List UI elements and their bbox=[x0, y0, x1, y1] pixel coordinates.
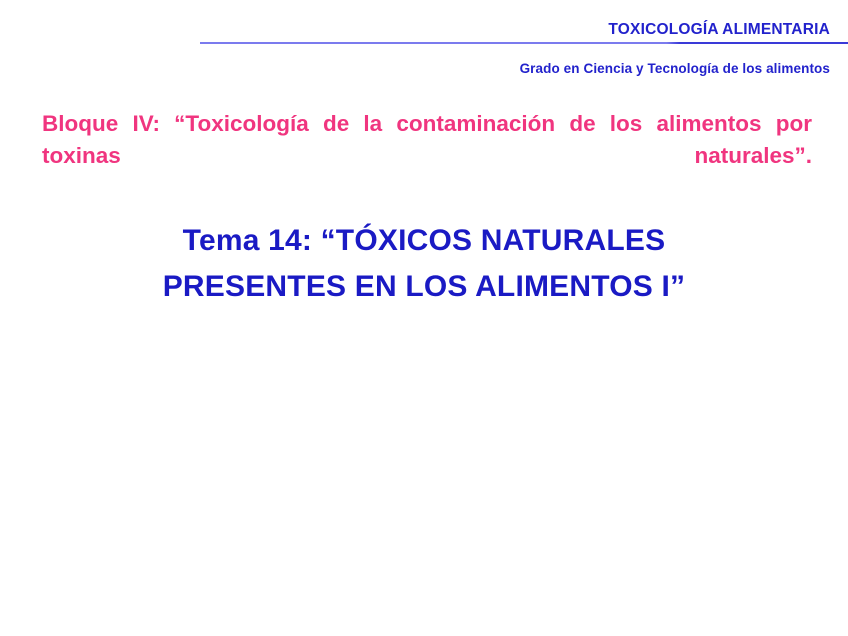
degree-subtitle: Grado en Ciencia y Tecnología de los ali… bbox=[0, 59, 830, 78]
page-title: Tema 14: “TÓXICOS NATURALES PRESENTES EN… bbox=[24, 218, 824, 310]
slide-content-area bbox=[0, 330, 848, 636]
header-divider-rule bbox=[200, 42, 848, 44]
page-title-line-1: Tema 14: “TÓXICOS NATURALES bbox=[24, 218, 824, 264]
block-heading: Bloque IV: “Toxicología de la contaminac… bbox=[42, 108, 812, 204]
course-title: TOXICOLOGÍA ALIMENTARIA bbox=[0, 20, 830, 40]
block-heading-text: Bloque IV: “Toxicología de la contaminac… bbox=[42, 111, 812, 168]
slide-header: TOXICOLOGÍA ALIMENTARIA Grado en Ciencia… bbox=[0, 0, 848, 92]
page-title-line-2: PRESENTES EN LOS ALIMENTOS I” bbox=[24, 264, 824, 310]
presentation-slide: TOXICOLOGÍA ALIMENTARIA Grado en Ciencia… bbox=[0, 0, 848, 636]
